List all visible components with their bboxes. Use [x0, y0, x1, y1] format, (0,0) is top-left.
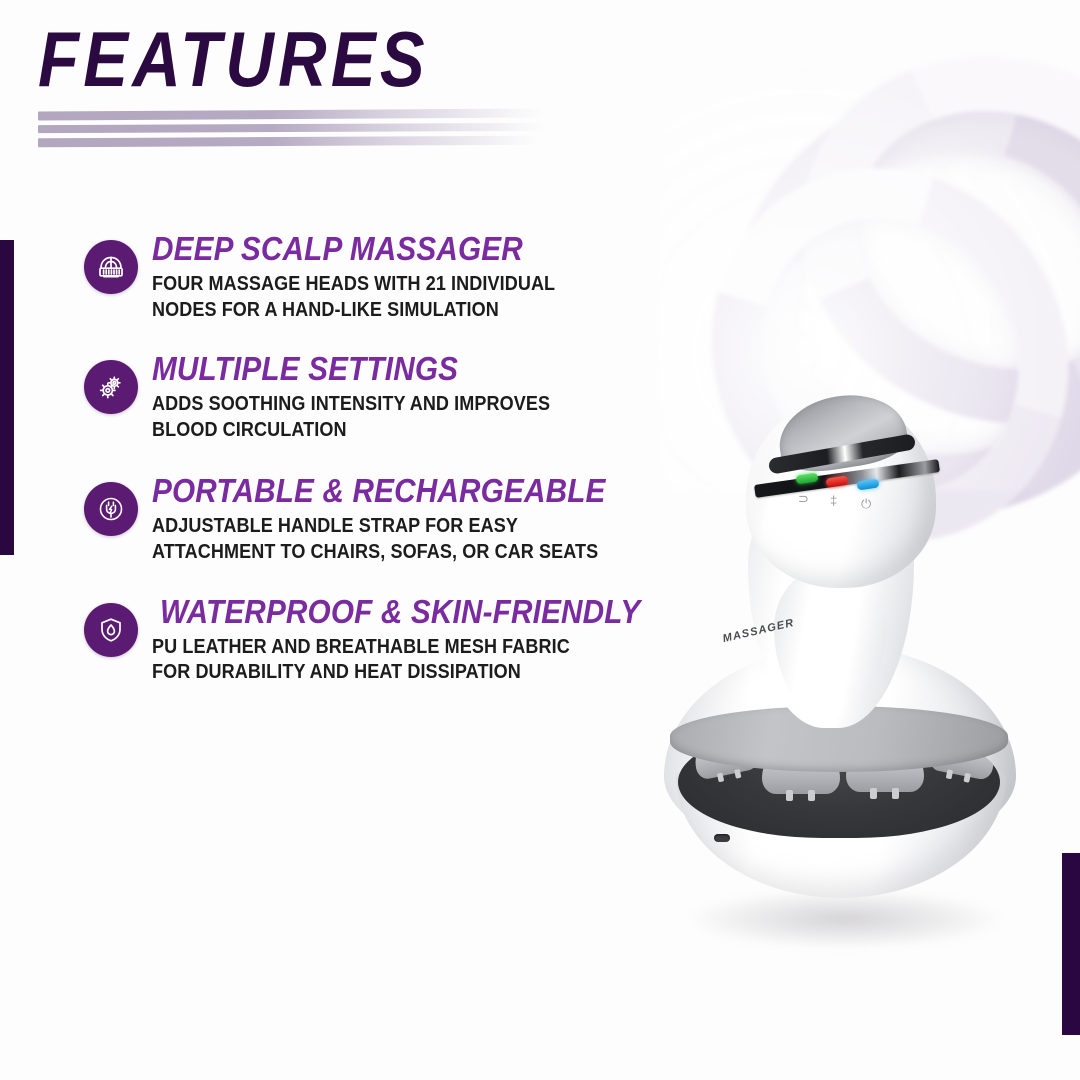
feature-list: DEEP SCALP MASSAGER FOUR MASSAGE HEADS W…	[84, 232, 684, 685]
feature-text-block: PORTABLE & RECHARGEABLE ADJUSTABLE HANDL…	[152, 474, 684, 564]
feature-heading: MULTIPLE SETTINGS	[152, 352, 631, 387]
title-underline-group	[38, 110, 558, 146]
feature-item-portable-rechargeable: PORTABLE & RECHARGEABLE ADJUSTABLE HANDL…	[84, 474, 684, 564]
infographic-canvas: FEATURES DEEP SCALP MASSAGER	[0, 0, 1080, 1080]
feature-body-line: NODES FOR A HAND-LIKE SIMULATION	[152, 297, 620, 323]
feature-item-multiple-settings: MULTIPLE SETTINGS ADDS SOOTHING INTENSIT…	[84, 352, 684, 442]
feature-heading: PORTABLE & RECHARGEABLE	[152, 474, 631, 509]
page-title: FEATURES	[38, 22, 554, 96]
feature-body-line: ADDS SOOTHING INTENSITY AND IMPROVES	[152, 391, 620, 417]
left-accent-bar	[0, 240, 14, 555]
feature-body: PU LEATHER AND BREATHABLE MESH FABRIC FO…	[152, 634, 629, 685]
power-plug-icon	[84, 482, 138, 536]
mode-symbol-icon: ⊃	[798, 492, 809, 505]
feature-body-line: BLOOD CIRCULATION	[152, 417, 620, 443]
feature-text-block: DEEP SCALP MASSAGER FOUR MASSAGE HEADS W…	[152, 232, 684, 322]
power-symbol-icon: ⏻	[861, 497, 871, 510]
title-rule-3	[38, 136, 538, 148]
feature-item-waterproof-skin-friendly: WATERPROOF & SKIN-FRIENDLY PU LEATHER AN…	[84, 595, 684, 685]
feature-item-deep-scalp-massager: DEEP SCALP MASSAGER FOUR MASSAGE HEADS W…	[84, 232, 684, 322]
feature-text-block: WATERPROOF & SKIN-FRIENDLY PU LEATHER AN…	[152, 595, 694, 685]
product-image: ⊃ ‡ ⏻ MASSAGER	[628, 388, 1058, 988]
feature-body: ADJUSTABLE HANDLE STRAP FOR EASY ATTACHM…	[152, 513, 620, 564]
feature-body-line: ADJUSTABLE HANDLE STRAP FOR EASY	[152, 513, 620, 539]
shield-droplet-icon	[84, 603, 138, 657]
right-accent-bar	[1062, 853, 1080, 1035]
feature-body: FOUR MASSAGE HEADS WITH 21 INDIVIDUAL NO…	[152, 271, 620, 322]
gears-icon	[84, 360, 138, 414]
title-block: FEATURES	[38, 22, 638, 146]
heat-symbol-icon: ‡	[830, 494, 837, 507]
feature-body: ADDS SOOTHING INTENSITY AND IMPROVES BLO…	[152, 391, 620, 442]
feature-body-line: FOR DURABILITY AND HEAT DISSIPATION	[152, 659, 629, 685]
feature-body-line: FOUR MASSAGE HEADS WITH 21 INDIVIDUAL	[152, 271, 620, 297]
feature-heading: DEEP SCALP MASSAGER	[152, 232, 631, 267]
title-rule-1	[38, 109, 543, 121]
feature-body-line: PU LEATHER AND BREATHABLE MESH FABRIC	[152, 634, 629, 660]
charging-port	[714, 834, 730, 842]
title-rule-2	[38, 123, 546, 133]
scalp-massager-icon	[84, 240, 138, 294]
feature-heading: WATERPROOF & SKIN-FRIENDLY	[160, 595, 640, 630]
feature-text-block: MULTIPLE SETTINGS ADDS SOOTHING INTENSIT…	[152, 352, 684, 442]
feature-body-line: ATTACHMENT TO CHAIRS, SOFAS, OR CAR SEAT…	[152, 539, 620, 565]
